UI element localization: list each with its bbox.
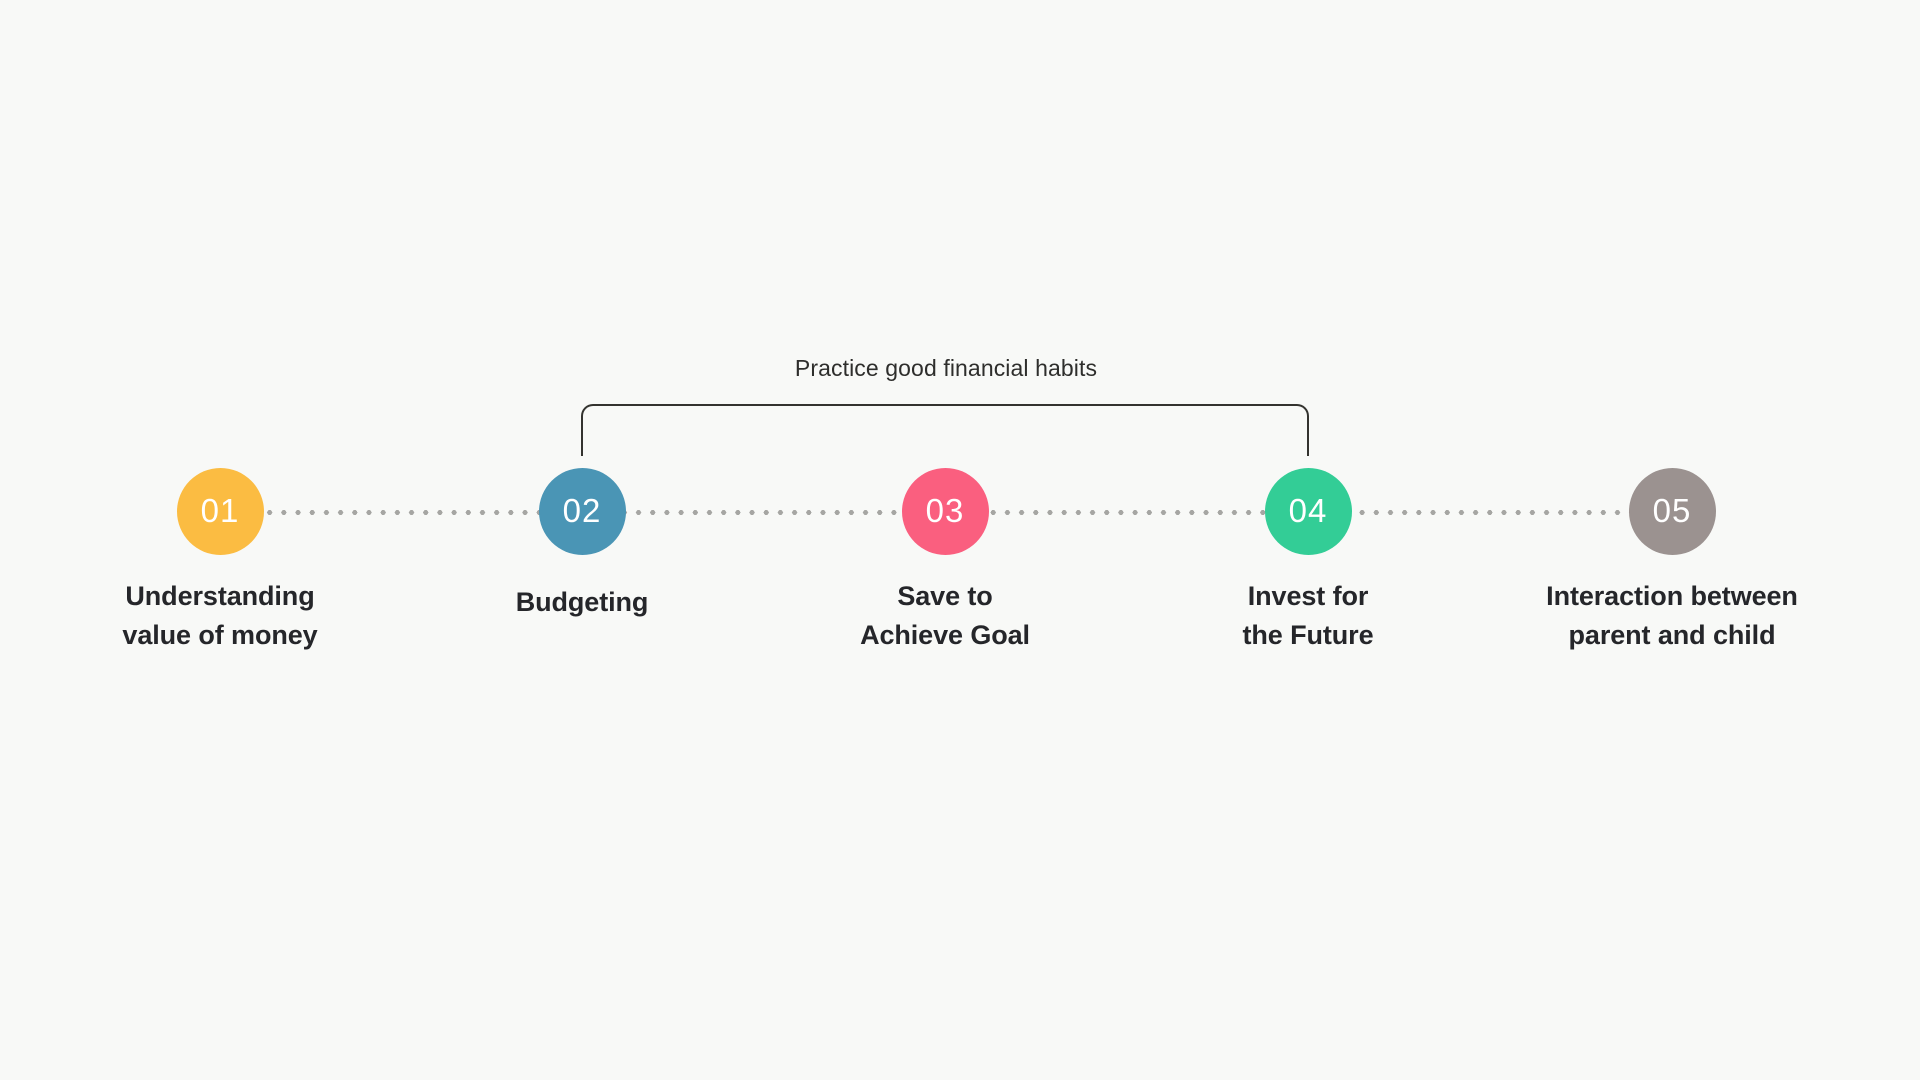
grouping-bracket [581, 404, 1309, 456]
step-label-04: Invest for the Future [1138, 577, 1478, 655]
step-number-03: 03 [926, 494, 965, 529]
bracket-annotation: Practice good financial habits [0, 355, 1920, 382]
step-label-line: Understanding [50, 577, 390, 616]
step-label-line: value of money [50, 616, 390, 655]
step-marker-circle-03[interactable]: 03 [902, 468, 989, 555]
timeline-step-05[interactable]: 05 Interaction between parent and child [1502, 468, 1842, 655]
step-marker-circle-02[interactable]: 02 [539, 468, 626, 555]
step-marker-circle-01[interactable]: 01 [177, 468, 264, 555]
step-number-04: 04 [1289, 494, 1328, 529]
timeline-diagram: Practice good financial habits 01 Unders… [0, 0, 1920, 1080]
timeline-step-04[interactable]: 04 Invest for the Future [1138, 468, 1478, 655]
step-label-line: parent and child [1502, 616, 1842, 655]
step-label-05: Interaction between parent and child [1502, 577, 1842, 655]
step-label-line: Invest for [1138, 577, 1478, 616]
step-number-05: 05 [1653, 494, 1692, 529]
step-label-01: Understanding value of money [50, 577, 390, 655]
timeline-step-03[interactable]: 03 Save to Achieve Goal [775, 468, 1115, 655]
timeline-step-01[interactable]: 01 Understanding value of money [50, 468, 390, 655]
step-number-01: 01 [201, 494, 240, 529]
step-label-02: Budgeting [412, 583, 752, 622]
timeline-step-02[interactable]: 02 Budgeting [412, 468, 752, 622]
step-label-03: Save to Achieve Goal [775, 577, 1115, 655]
bracket-annotation-text: Practice good financial habits [795, 355, 1097, 382]
step-number-02: 02 [563, 494, 602, 529]
step-marker-circle-05[interactable]: 05 [1629, 468, 1716, 555]
step-label-line: the Future [1138, 616, 1478, 655]
step-label-line: Achieve Goal [775, 616, 1115, 655]
step-marker-circle-04[interactable]: 04 [1265, 468, 1352, 555]
step-label-line: Interaction between [1502, 577, 1842, 616]
step-label-line: Budgeting [412, 583, 752, 622]
step-label-line: Save to [775, 577, 1115, 616]
